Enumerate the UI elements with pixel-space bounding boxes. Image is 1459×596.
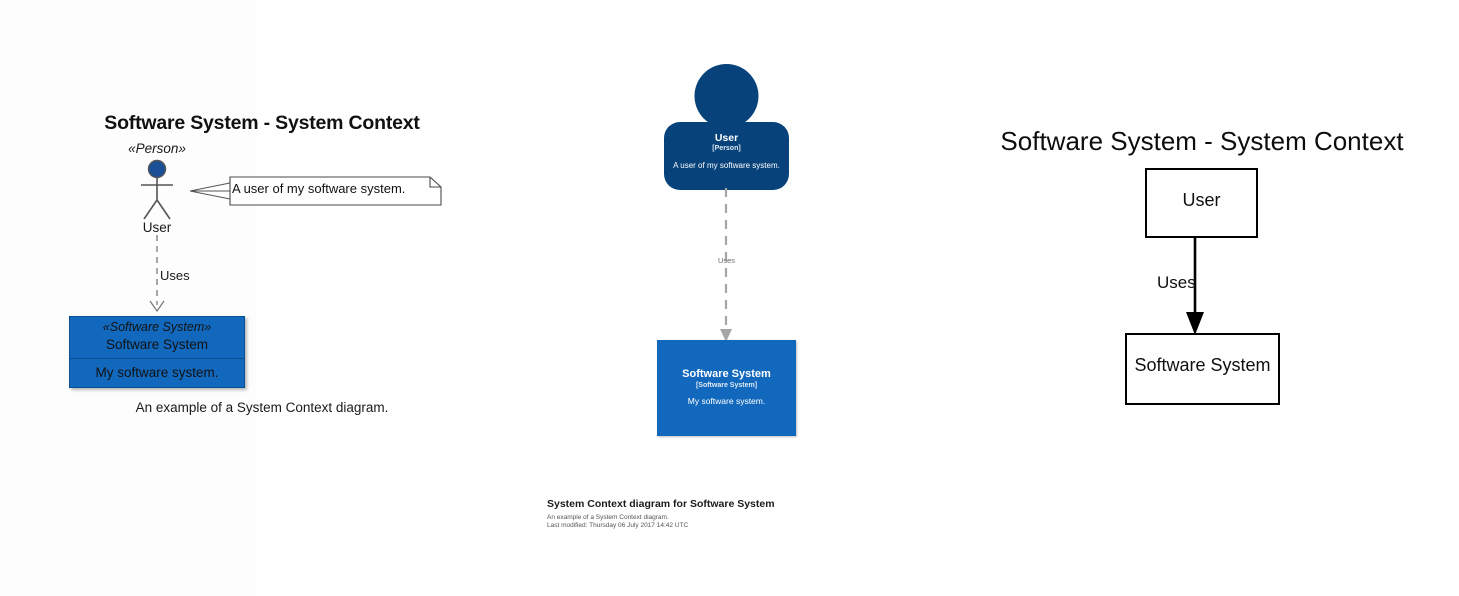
- uml-diagram-title: Software System - System Context: [0, 112, 524, 135]
- plain-user-label: User: [1145, 190, 1258, 211]
- diagram-canvas: Software System - System Context «Person…: [0, 0, 1459, 596]
- uml-note-text: A user of my software system.: [232, 181, 405, 196]
- uml-system-description: My software system.: [70, 363, 244, 383]
- c4-caption-title: System Context diagram for Software Syst…: [547, 498, 775, 510]
- c4-person-description: A user of my software system.: [664, 161, 789, 170]
- uml-box-name-compartment: «Software System» Software System: [70, 317, 244, 359]
- person-shape-icon: [664, 62, 789, 190]
- uml-system-stereotype: «Software System»: [70, 319, 244, 335]
- panel-classic-uml: Software System - System Context «Person…: [0, 0, 500, 596]
- c4-caption-last-modified: Last modified: Thursday 06 July 2017 14:…: [547, 522, 688, 529]
- plain-uses-label: Uses: [1157, 273, 1196, 293]
- uml-uses-label: Uses: [160, 268, 190, 283]
- c4-system-type: [Software System]: [657, 382, 796, 389]
- panel-plain-boxes: Software System - System Context User Us…: [960, 0, 1459, 596]
- c4-system-description: My software system.: [657, 396, 796, 406]
- c4-uses-relationship: [696, 188, 756, 343]
- uml-software-system-box: «Software System» Software System My sof…: [69, 316, 245, 388]
- plain-diagram-title: Software System - System Context: [960, 126, 1452, 157]
- c4-person-type: [Person]: [664, 145, 789, 152]
- uml-box-description-compartment: My software system.: [70, 359, 244, 388]
- uml-actor-label: User: [0, 220, 314, 235]
- stick-figure-actor-icon: [125, 158, 189, 224]
- plain-system-label: Software System: [1121, 355, 1284, 376]
- c4-person-name: User: [664, 132, 789, 144]
- c4-system-name: Software System: [657, 368, 796, 380]
- uml-system-name: Software System: [70, 335, 244, 354]
- uml-actor-stereotype: «Person»: [0, 141, 314, 156]
- c4-caption-description: An example of a System Context diagram.: [547, 514, 669, 521]
- c4-uses-label: Uses: [664, 256, 789, 265]
- uml-caption: An example of a System Context diagram.: [0, 400, 524, 415]
- panel-c4-structurizr: User [Person] A user of my software syst…: [500, 0, 960, 596]
